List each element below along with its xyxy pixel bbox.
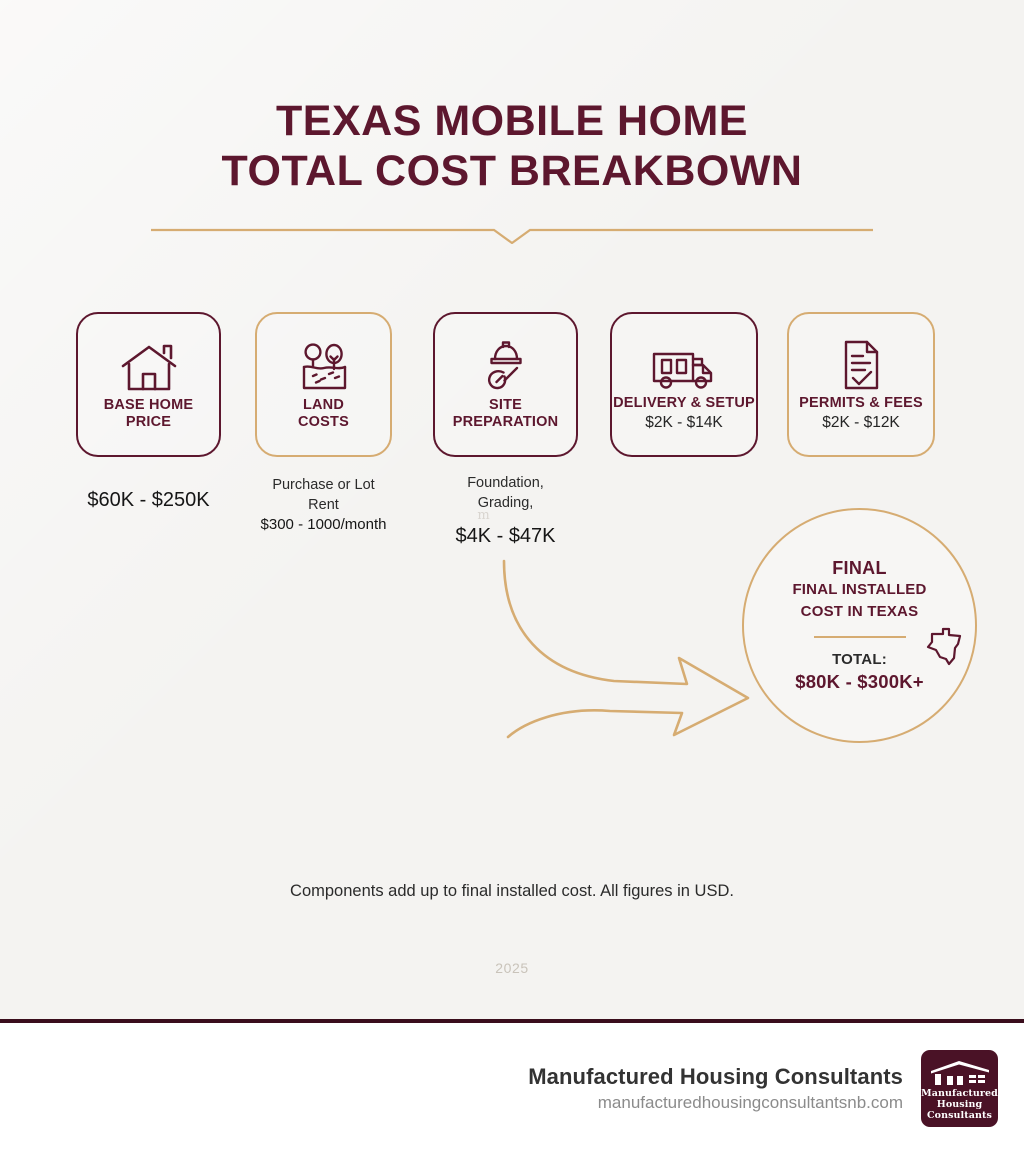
final-subtitle: FINAL INSTALLED COST IN TEXAS [792, 579, 926, 623]
cost-card-site-preparation[interactable]: SITE PREPARATION Foundation, Grading, m … [433, 312, 578, 549]
card-box: PERMITS & FEES $2K - $12K [787, 312, 935, 457]
footer-text: Manufactured Housing Consultants manufac… [528, 1063, 903, 1115]
land-with-trees-icon-glyph [296, 343, 352, 393]
hardhat-shovel-icon-glyph [479, 341, 533, 393]
year-label: 2025 [0, 960, 1024, 976]
card-label-line-2: PREPARATION [453, 414, 559, 430]
delivery-truck-icon-glyph [651, 347, 717, 391]
final-total-label: TOTAL: [832, 650, 887, 670]
card-box: LAND COSTS [255, 312, 392, 457]
card-label: SITE PREPARATION [453, 397, 559, 431]
card-label-line-1: DELIVERY & SETUP [613, 395, 755, 411]
card-box: DELIVERY & SETUP $2K - $14K [610, 312, 758, 457]
header-divider-rule-icon [151, 218, 873, 244]
header-divider [151, 218, 873, 244]
house-icon-glyph [120, 343, 178, 393]
delivery-truck-icon [651, 335, 717, 391]
logo-line-3: Consultants [921, 1110, 998, 1121]
watermark-artifact: m [389, 513, 578, 519]
card-caption: Foundation, Grading, [433, 473, 578, 513]
cost-card-permits-fees[interactable]: PERMITS & FEES $2K - $12K [787, 312, 935, 457]
document-check-icon [839, 335, 883, 391]
card-value: $4K - $47K [433, 523, 578, 549]
land-with-trees-icon [296, 337, 352, 393]
footnote: Components add up to final installed cos… [0, 882, 1024, 901]
card-value: $300 - 1000/month [255, 515, 392, 535]
card-label-line-2: COSTS [298, 414, 349, 430]
card-caption: Purchase or Lot Rent [255, 475, 392, 515]
card-label: PERMITS & FEES [799, 395, 923, 412]
card-box: SITE PREPARATION [433, 312, 578, 457]
flow-arrow-icon [480, 545, 780, 770]
card-label-line-2: PRICE [126, 414, 171, 430]
logo-line-1: Manufactured [921, 1088, 998, 1099]
card-label-line-1: PERMITS & FEES [799, 395, 923, 411]
card-value: $2K - $12K [822, 413, 900, 432]
infographic-poster: TEXAS MOBILE HOME TOTAL COST BREAKBOWN [0, 0, 1024, 1154]
card-label-line-1: LAND [303, 397, 344, 413]
brand-name: Manufactured Housing Consultants [528, 1063, 903, 1091]
ranch-house-logo-icon [929, 1059, 991, 1087]
card-label: BASE HOME PRICE [104, 397, 194, 431]
title-line-2: TOTAL COST BREAKBOWN [0, 146, 1024, 196]
brand-url[interactable]: manufacturedhousingconsultantsnb.com [528, 1091, 903, 1115]
card-box: BASE HOME PRICE [76, 312, 221, 457]
house-icon [120, 337, 178, 393]
logo-wordmark: Manufactured Housing Consultants [921, 1088, 998, 1121]
card-value: $60K - $250K [76, 487, 221, 513]
final-subtitle-line-2: COST IN TEXAS [801, 603, 919, 620]
texas-state-outline-icon-glyph [923, 626, 967, 670]
final-total-value: $80K - $300K+ [795, 670, 924, 694]
final-subtitle-line-1: FINAL INSTALLED [792, 581, 926, 598]
texas-state-outline-icon [923, 626, 967, 670]
header: TEXAS MOBILE HOME TOTAL COST BREAKBOWN [0, 96, 1024, 196]
final-total-circle[interactable]: FINAL FINAL INSTALLED COST IN TEXAS TOTA… [742, 508, 977, 743]
document-check-icon-glyph [839, 339, 883, 391]
card-label-line-1: SITE [489, 397, 522, 413]
title-line-1: TEXAS MOBILE HOME [276, 97, 748, 145]
card-label: DELIVERY & SETUP [613, 395, 755, 412]
brand-logo: Manufactured Housing Consultants [921, 1050, 998, 1127]
flow-arrow [480, 545, 780, 770]
footer: Manufactured Housing Consultants manufac… [0, 1023, 1024, 1154]
cost-card-land-costs[interactable]: LAND COSTS Purchase or Lot Rent $300 - 1… [255, 312, 392, 535]
cost-card-base-home-price[interactable]: BASE HOME PRICE $60K - $250K [76, 312, 221, 513]
page-title: TEXAS MOBILE HOME TOTAL COST BREAKBOWN [0, 96, 1024, 196]
final-divider [814, 636, 906, 638]
card-label: LAND COSTS [298, 397, 349, 431]
card-value: $2K - $14K [645, 413, 723, 432]
hardhat-shovel-icon [479, 337, 533, 393]
final-kicker: FINAL [832, 557, 887, 579]
logo-line-2: Housing [921, 1099, 998, 1110]
cost-card-delivery-setup[interactable]: DELIVERY & SETUP $2K - $14K [610, 312, 758, 457]
card-label-line-1: BASE HOME [104, 397, 194, 413]
